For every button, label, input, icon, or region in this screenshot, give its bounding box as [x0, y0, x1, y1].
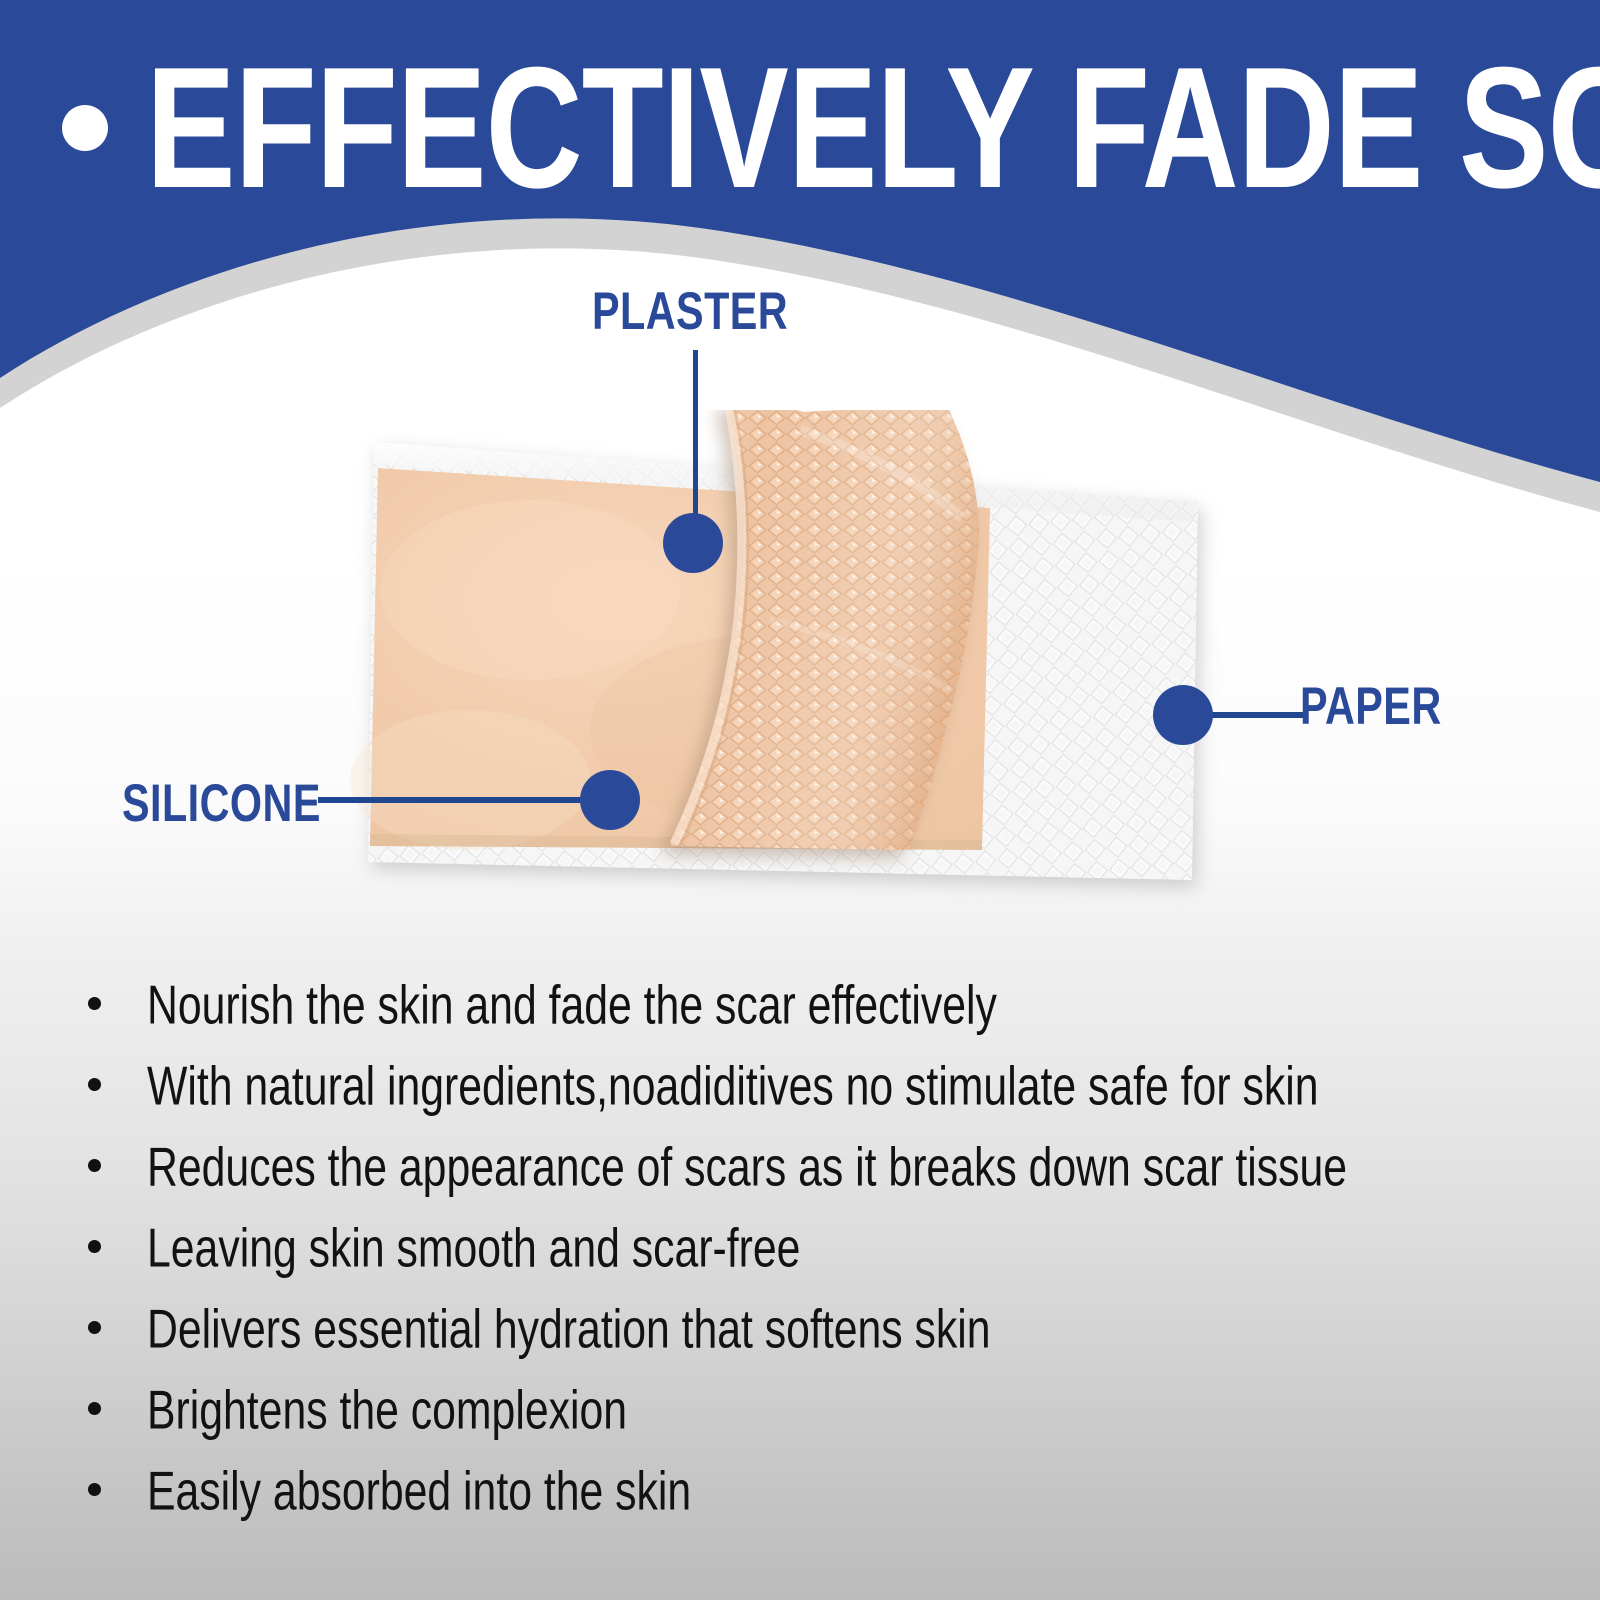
benefit-item: Nourish the skin and fade the scar effec…: [0, 982, 1600, 1063]
bullet-dot-icon: [88, 1078, 101, 1091]
benefit-text: Brightens the complexion: [147, 1382, 627, 1437]
leader-line-silicone: [318, 797, 610, 803]
benefit-text: Easily absorbed into the skin: [147, 1463, 691, 1518]
benefits-list: Nourish the skin and fade the scar effec…: [0, 982, 1600, 1549]
leader-line-paper: [1208, 712, 1304, 718]
callout-label-plaster: PLASTER: [592, 280, 788, 342]
bullet-dot-icon: [88, 1483, 101, 1496]
headline-row: EFFECTIVELY FADE SCARS: [0, 48, 1600, 208]
benefit-text: Nourish the skin and fade the scar effec…: [147, 977, 997, 1032]
page-title: EFFECTIVELY FADE SCARS: [146, 46, 1600, 210]
benefit-text: With natural ingredients,noadiditives no…: [147, 1058, 1318, 1113]
callout-dot-plaster[interactable]: [663, 513, 723, 573]
benefit-text: Leaving skin smooth and scar-free: [147, 1220, 800, 1275]
benefit-item: With natural ingredients,noadiditives no…: [0, 1063, 1600, 1144]
callout-label-silicone: SILICONE: [122, 772, 321, 834]
callout-dot-paper[interactable]: [1153, 685, 1213, 745]
infographic-page: EFFECTIVELY FADE SCARS: [0, 0, 1600, 1600]
bullet-dot-icon: [88, 997, 101, 1010]
benefit-item: Brightens the complexion: [0, 1387, 1600, 1468]
benefit-text: Reduces the appearance of scars as it br…: [147, 1139, 1347, 1194]
callout-dot-silicone[interactable]: [580, 770, 640, 830]
bullet-dot-icon: [88, 1159, 101, 1172]
bullet-dot-icon: [88, 1240, 101, 1253]
benefit-text: Delivers essential hydration that soften…: [147, 1301, 991, 1356]
benefit-item: Reduces the appearance of scars as it br…: [0, 1144, 1600, 1225]
bullet-dot-icon: [88, 1321, 101, 1334]
product-image: [330, 410, 1250, 930]
benefit-item: Delivers essential hydration that soften…: [0, 1306, 1600, 1387]
bullet-dot-icon: [62, 105, 108, 151]
benefit-item: Easily absorbed into the skin: [0, 1468, 1600, 1549]
benefit-item: Leaving skin smooth and scar-free: [0, 1225, 1600, 1306]
callout-label-paper: PAPER: [1300, 675, 1442, 737]
bullet-dot-icon: [88, 1402, 101, 1415]
